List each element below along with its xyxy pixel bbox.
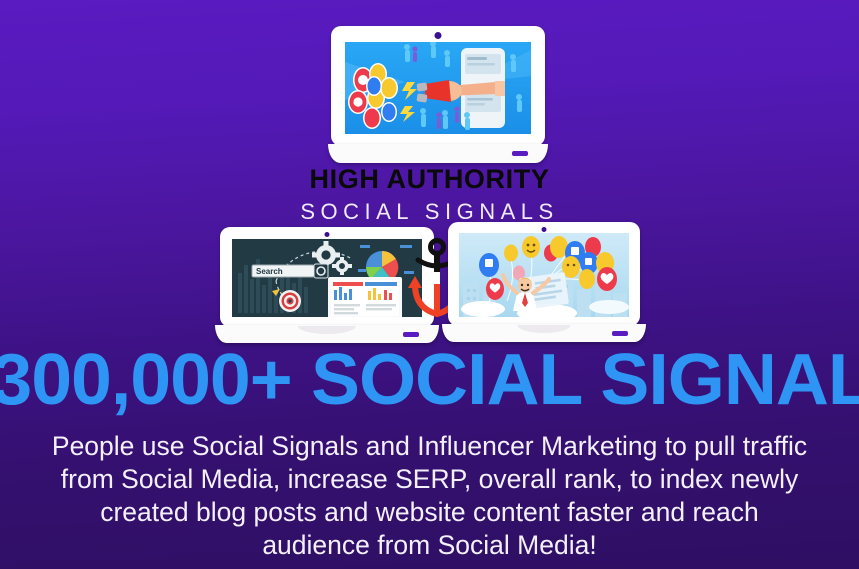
seo-dashboard-screen: Search xyxy=(232,239,422,317)
left-laptop-illustration: Search xyxy=(220,227,434,343)
laptop-lid xyxy=(331,26,545,146)
body-line: People use Social Signals and Influencer… xyxy=(18,430,841,463)
kicker-block: HIGH AUTHORITY SOCIAL SIGNALS xyxy=(0,166,859,223)
trackpad xyxy=(517,325,570,333)
influencer-magnet-screen xyxy=(345,42,531,134)
influencer-magnet-illustration xyxy=(345,42,531,134)
body-line: created blog posts and website content f… xyxy=(18,496,841,529)
laptop-base xyxy=(328,144,548,163)
webcam-dot xyxy=(325,232,330,237)
laptop-lid xyxy=(448,222,640,326)
kicker-primary: HIGH AUTHORITY xyxy=(0,166,859,193)
social-balloons-illustration xyxy=(459,233,629,317)
social-balloons-screen xyxy=(459,233,629,317)
kicker-secondary: SOCIAL SIGNALS xyxy=(0,201,859,223)
webcam-dot xyxy=(435,32,442,39)
laptop-lid: Search xyxy=(220,227,434,327)
body-copy: People use Social Signals and Influencer… xyxy=(18,430,841,562)
webcam-dot xyxy=(542,227,547,232)
right-laptop-illustration xyxy=(448,222,640,342)
top-laptop-illustration xyxy=(331,26,545,161)
body-line: from Social Media, increase SERP, overal… xyxy=(18,463,841,496)
trackpad xyxy=(298,326,356,334)
page-title: 300,000+ SOCIAL SIGNALS xyxy=(0,344,859,416)
search-box-label: Search xyxy=(256,267,283,276)
promotional-poster: HIGH AUTHORITY SOCIAL SIGNALS xyxy=(0,0,859,569)
body-line: audience from Social Media! xyxy=(18,529,841,562)
seo-analytics-dashboard-illustration: Search xyxy=(232,239,422,317)
